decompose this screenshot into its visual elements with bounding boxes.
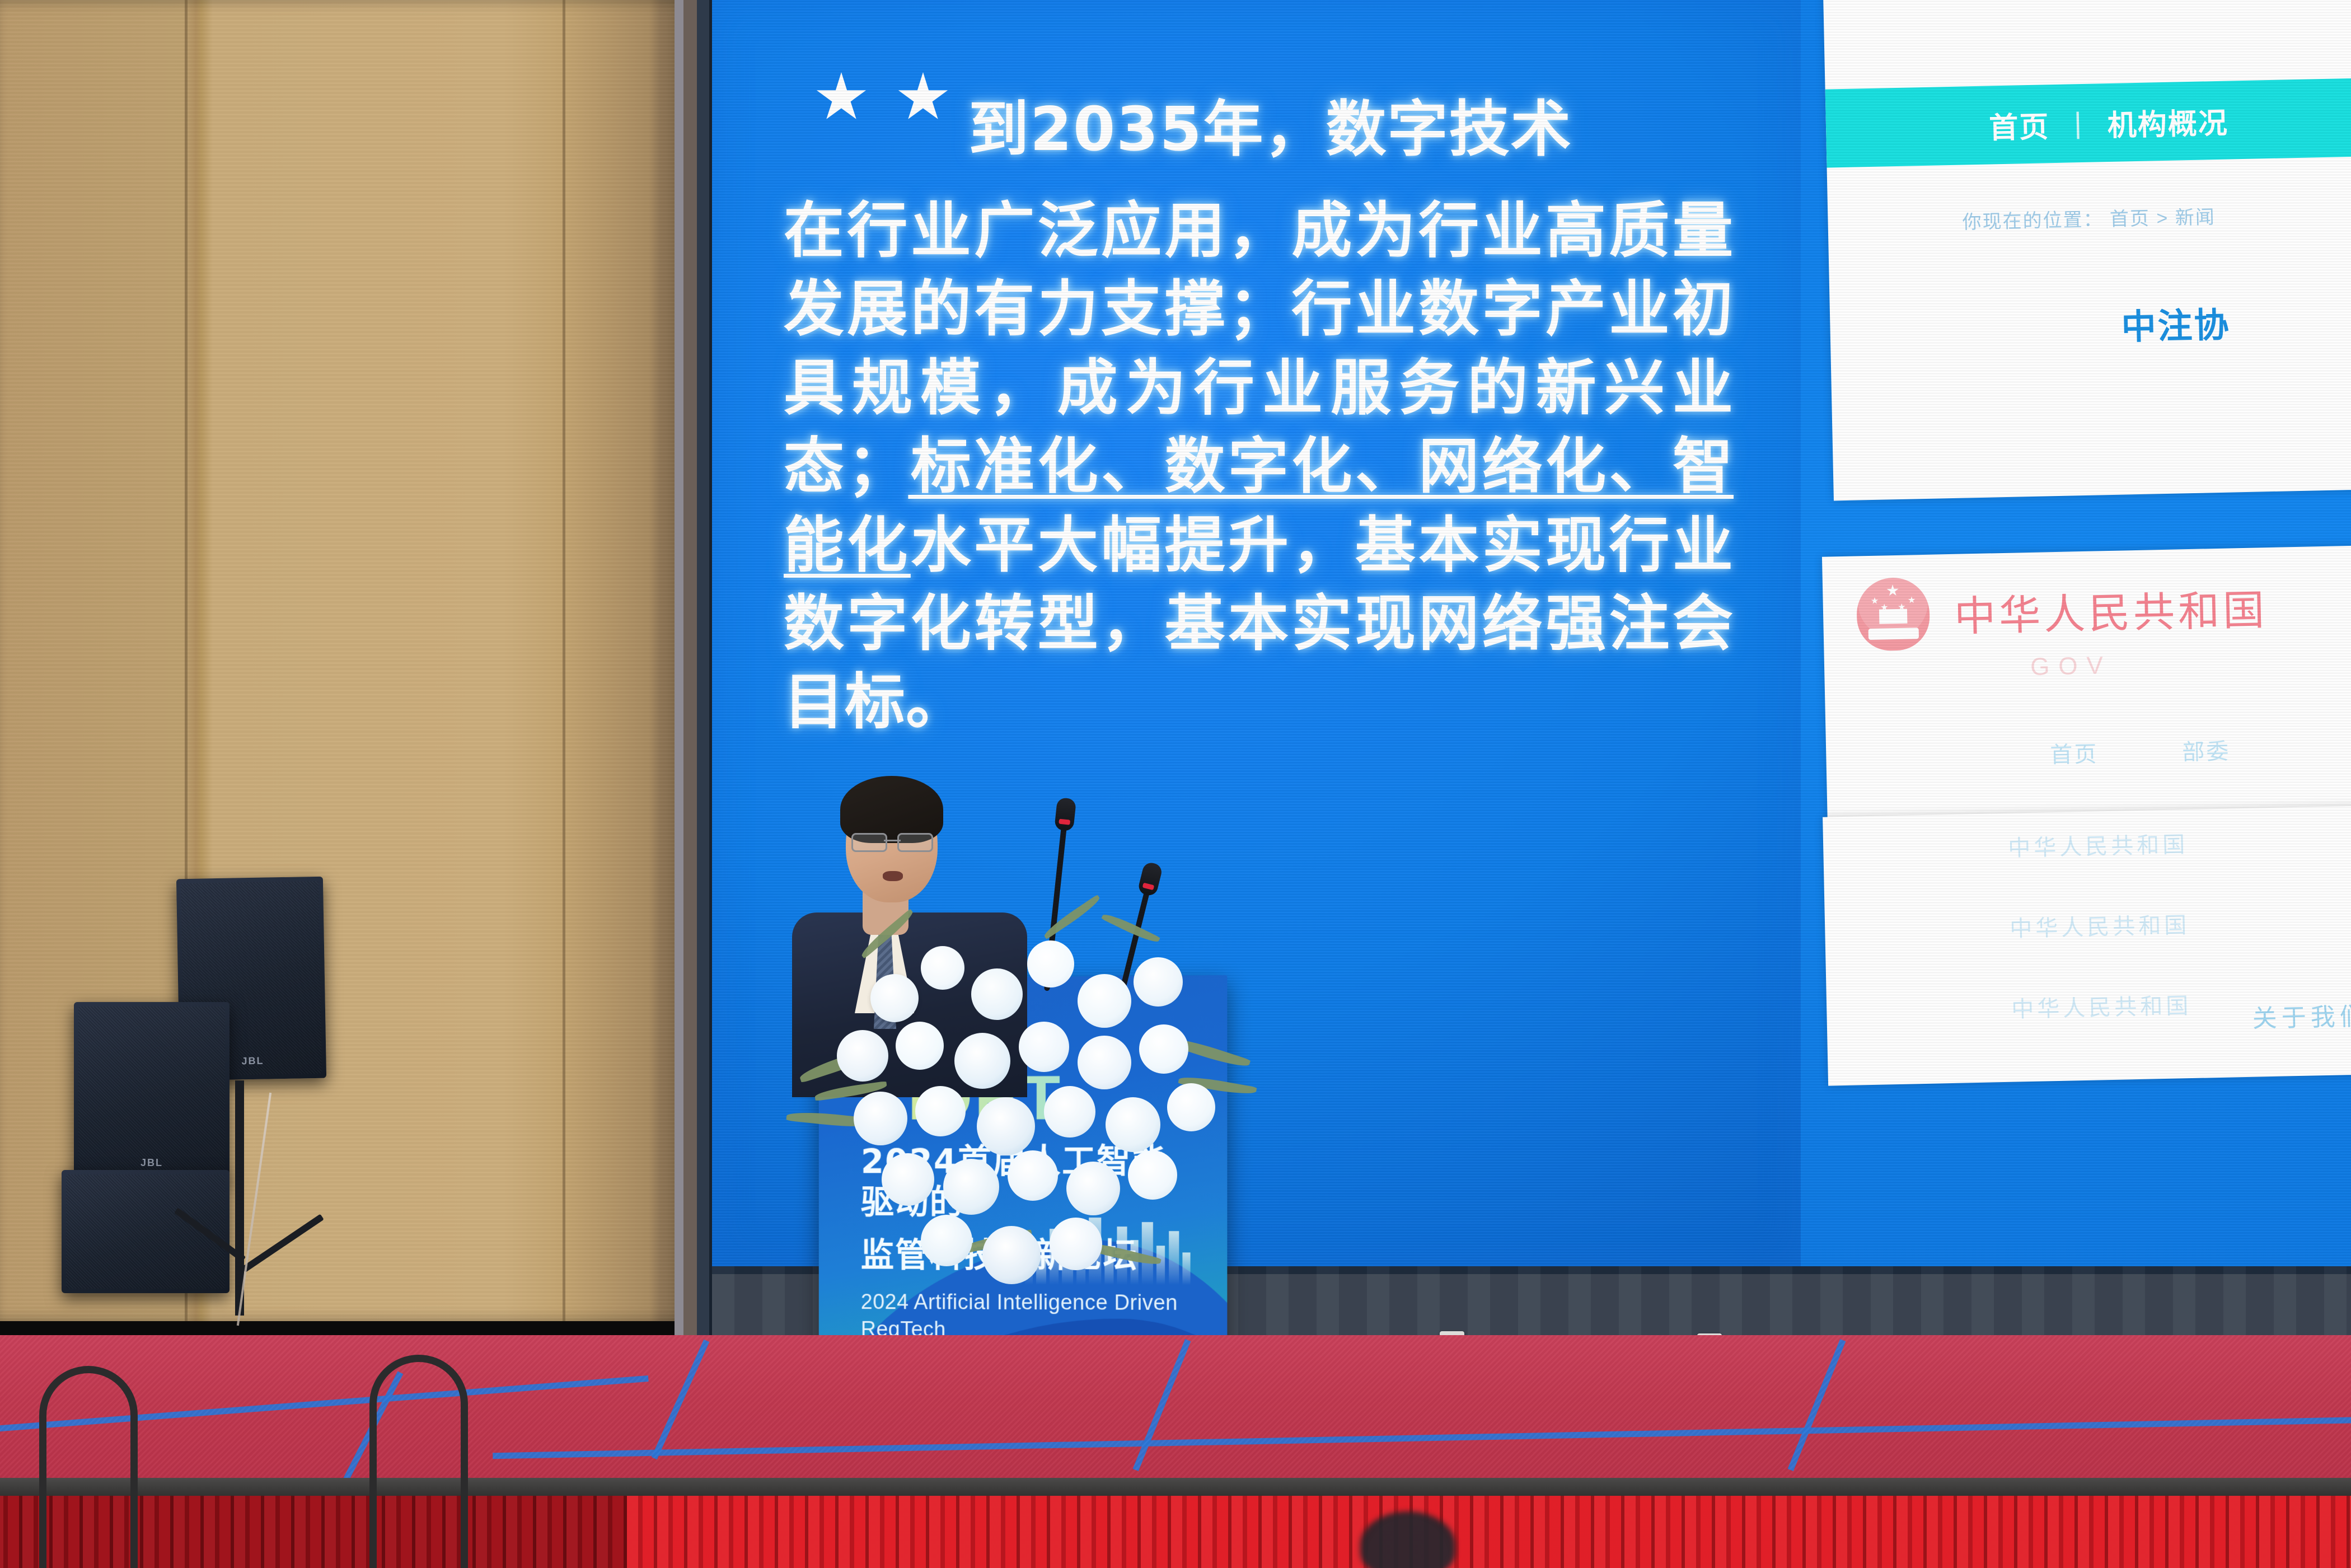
mouth <box>883 871 903 881</box>
website-panel-institute: THE CHINESE INSTITUTE 首页 | 机构概况 你现在的位置： … <box>1821 0 2351 500</box>
jbl-brand-label: JBL <box>241 1055 264 1068</box>
stage-tape <box>493 1417 2351 1459</box>
gov-header: 中华人民共和国 <box>1856 570 2269 651</box>
gov-nav-item-home[interactable]: 首页 <box>2050 736 2099 769</box>
gov-site-title: 中华人民共和国 <box>1954 577 2268 643</box>
document-footer: 关于我们 <box>2252 996 2351 1034</box>
gov-note: 国务院 <box>2063 813 2127 842</box>
gov-site-subtitle: GOV <box>2030 652 2113 681</box>
stage-stair-handrail[interactable] <box>39 1366 138 1568</box>
stage-tape <box>1788 1339 1846 1471</box>
wall-seam <box>563 0 565 1321</box>
gov-nav-bar[interactable]: 首页 部委 <box>2050 733 2231 770</box>
glasses-icon <box>851 833 933 850</box>
wall-pillar <box>675 0 716 1344</box>
website-panel-government: 中华人民共和国 GOV 首页 部委 国务院 <box>1822 545 2351 887</box>
stage-tape <box>652 1340 710 1460</box>
site-headline: 中注协 <box>2121 297 2231 349</box>
site-nav-bar[interactable]: 首页 | 机构概况 <box>1825 77 2351 167</box>
nav-item-home[interactable]: 首页 <box>1988 103 2050 146</box>
china-national-emblem-icon <box>1856 577 1931 652</box>
conference-photo-scene: 到2035年，数字技术 在行业广泛应用，成为行业高质量发展的有力支撑；行业数字产… <box>0 0 2351 1568</box>
jbl-loudspeaker: JBL <box>74 1002 230 1181</box>
stage-platform <box>0 1335 2351 1497</box>
doc-line-2: 中华人民共和国 <box>2010 903 2351 943</box>
slide-paragraph: 在行业广泛应用，成为行业高质量发展的有力支撑；行业数字产业初具规模，成为行业服务… <box>784 192 1734 742</box>
gov-nav-item-ministries[interactable]: 部委 <box>2182 733 2231 767</box>
slide-segment-3: 水平大幅提升，基本实现行业数字化转型，基本实现网络强注会目标。 <box>784 511 1734 738</box>
speaker-grille <box>78 1007 225 1177</box>
doc-line-3: 中华人民共和国 <box>2011 984 2351 1024</box>
microphone-indicator-light <box>1059 819 1070 825</box>
doc-line-1: 中华人民共和国 <box>2008 822 2351 863</box>
secondary-led-screen: THE CHINESE INSTITUTE 首页 | 机构概况 你现在的位置： … <box>1801 0 2351 1273</box>
website-panel-document: 中华人民共和国 中华人民共和国 中华人民共和国 关于我们 <box>1823 805 2351 1085</box>
slide-heading: 到2035年，数字技术 <box>968 92 1734 167</box>
breadcrumb: 你现在的位置： 首页 > 新闻 <box>1962 202 2216 234</box>
floral-arrangement <box>786 890 1257 1293</box>
stage-stair-handrail[interactable] <box>369 1355 468 1568</box>
nav-separator: | <box>2074 106 2083 140</box>
document-lines: 中华人民共和国 中华人民共和国 中华人民共和国 <box>2008 822 2351 1072</box>
stage-tape <box>1133 1339 1191 1471</box>
jbl-brand-label: JBL <box>141 1157 163 1169</box>
nav-item-about[interactable]: 机构概况 <box>2107 99 2229 144</box>
